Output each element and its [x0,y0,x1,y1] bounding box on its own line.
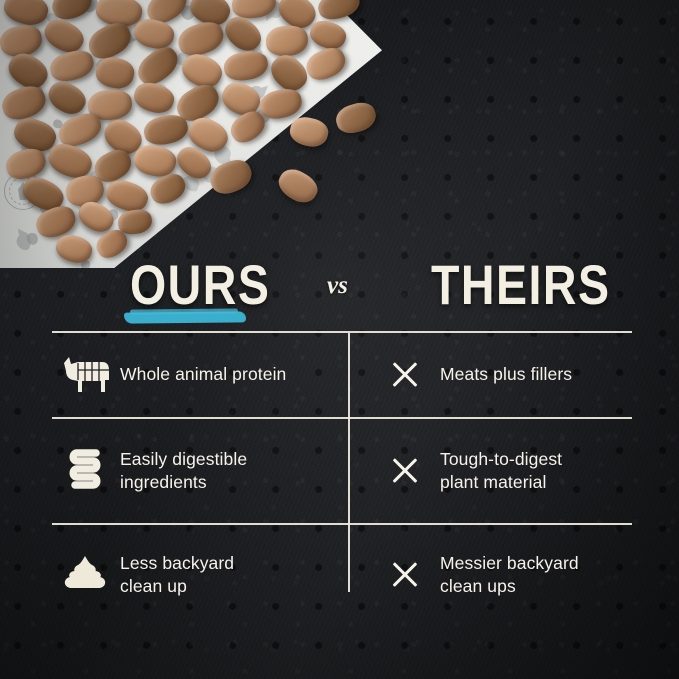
product-comparison-graphic: OURS vs THEIRS [0,0,679,679]
header-ours: OURS [130,252,270,317]
x-mark-icon [390,456,420,486]
row-3-theirs-label: Messier backyard clean ups [440,552,579,599]
row-2-theirs-label: Tough-to-digest plant material [440,448,562,495]
row-1-ours-label: Whole animal protein [120,363,286,386]
header-theirs: THEIRS [431,252,611,317]
row-1-theirs-label: Meats plus fillers [440,363,572,386]
comparison-header: OURS vs THEIRS [0,252,679,324]
table-row: Whole animal protein Meats plus fillers [52,333,632,417]
table-row: Less backyard clean up Messier backyard … [52,525,632,625]
row-1-theirs-cell: Meats plus fillers [348,333,632,417]
row-3-ours-cell: Less backyard clean up [52,525,348,625]
row-1-ours-cell: Whole animal protein [52,333,348,417]
table-row: Easily digestible ingredients Tough-to-d… [52,419,632,523]
row-2-ours-label: Easily digestible ingredients [120,448,247,495]
cow-butcher-cuts-icon [56,348,114,402]
x-mark-icon [390,560,420,590]
row-3-ours-label: Less backyard clean up [120,552,234,599]
row-3-theirs-cell: Messier backyard clean ups [348,525,632,625]
header-vs: vs [327,272,348,300]
intestine-digestion-icon [56,444,114,498]
x-mark-icon [390,360,420,390]
row-2-theirs-cell: Tough-to-digest plant material [348,419,632,523]
row-2-ours-cell: Easily digestible ingredients [52,419,348,523]
stool-poop-icon [56,548,114,602]
